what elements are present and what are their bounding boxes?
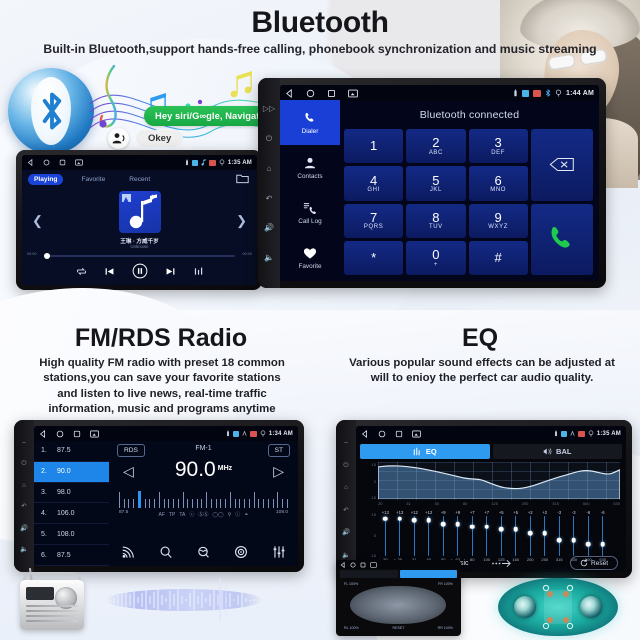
voice-reply-bubble: Okey: [136, 130, 183, 147]
zone-label-rr: RR 100%: [438, 626, 453, 630]
target-icon[interactable]: [234, 545, 248, 559]
bluetooth-dialer-screen[interactable]: 1:44 AM Dialer Contacts: [280, 85, 599, 281]
tab-eq[interactable]: EQ: [360, 444, 490, 459]
preset-number: 1.: [41, 447, 49, 454]
preset-frequency: 87.5: [57, 447, 71, 454]
key-letters: GHI: [367, 187, 379, 193]
fm-main-panel: RDS ST FM-1 ◁ ▷ 90.0MHz 87.5 108.0: [109, 441, 298, 566]
frequency-display: 90.0MHz: [109, 458, 298, 482]
pause-icon[interactable]: [132, 263, 148, 279]
preset-number: 2.: [41, 468, 49, 475]
volume-up-button[interactable]: 🔊: [20, 524, 28, 532]
android-nav-bar[interactable]: [27, 159, 83, 166]
key-letters: WXYZ: [488, 224, 508, 230]
screenshot-icon[interactable]: [348, 89, 358, 98]
key-3[interactable]: 3 DEF: [469, 129, 528, 163]
eq-gain-label: +5: [513, 510, 518, 515]
backspace-icon: [549, 157, 575, 172]
clock-label: 1:44 AM: [566, 90, 594, 97]
tab-playing[interactable]: Playing: [28, 174, 63, 185]
eq-slider-knob[interactable]: [542, 531, 547, 536]
poster-canvas: Bluetooth Built-in Bluetooth,support han…: [0, 0, 640, 640]
back-icon[interactable]: [27, 159, 34, 166]
preset-item-3[interactable]: 3. 98.0: [34, 483, 109, 504]
tab-eq[interactable]: [340, 570, 398, 578]
scan-icon[interactable]: [196, 545, 210, 559]
bt-statusbar: 1:44 AM: [280, 85, 599, 101]
eq-x-tick: 500: [583, 501, 590, 508]
preset-item-5[interactable]: 5. 108.0: [34, 524, 109, 545]
bluetooth-dialer-device: ▷▷ ⏻ ⌂ ↶ 🔊 🔈: [258, 78, 606, 288]
preset-number: 6.: [41, 552, 49, 559]
eq-graph-x-axis: 20 31 50 80 125 200 315 500 630: [378, 501, 620, 508]
fm-toolbar[interactable]: [109, 540, 298, 564]
key-4[interactable]: 4 GHI: [344, 166, 403, 200]
eq-slider-track[interactable]: [414, 516, 415, 556]
eq-slider-track[interactable]: [486, 516, 487, 556]
page-subtitle: Built-in Bluetooth,support hands-free ca…: [0, 42, 640, 56]
eq-slider-track[interactable]: [472, 516, 473, 556]
volume-down-button[interactable]: 🔈: [264, 253, 274, 262]
previous-track-arrow[interactable]: ❮: [32, 213, 43, 229]
location-icon: [555, 89, 562, 97]
radio-grille-line: [26, 610, 78, 612]
equalizer-screen[interactable]: 1:35 AM EQ BAL: [356, 426, 626, 572]
hero-section: Bluetooth Built-in Bluetooth,support han…: [0, 0, 640, 310]
eq-gain-label: +13: [382, 510, 389, 515]
usb-icon: [226, 430, 230, 437]
back-icon[interactable]: [39, 430, 47, 438]
rds-flags-row: AF TP TA ⓒ ⓈⓈ ◯◯ ⚲ ⓘ ⚭: [109, 511, 298, 518]
bluetooth-status-text: Bluetooth connected: [340, 109, 599, 121]
preset-list[interactable]: 1. 87.5 2. 90.0 3. 98.0 4. 106.0 5. 108.…: [34, 441, 109, 566]
zone-label-rl: RL 100%: [344, 626, 359, 630]
eq-gain-label: -6: [601, 510, 605, 515]
eq-gain-label: +2: [542, 510, 547, 515]
eq-gain-label: -3: [572, 510, 576, 515]
key-digit: 9: [495, 211, 502, 225]
fm-statusbar: 1:34 AM: [34, 426, 298, 441]
person-icon: [303, 156, 317, 170]
search-icon[interactable]: [159, 545, 173, 559]
usb-icon: [513, 89, 518, 97]
key-2[interactable]: 2 ABC: [406, 129, 465, 163]
rds-flag-ta: TA: [179, 512, 185, 518]
home-icon[interactable]: [378, 430, 386, 438]
eq-response-graph: [378, 462, 620, 500]
eq-x-tick: 200: [522, 501, 529, 508]
eq-gain-label: +13: [396, 510, 403, 515]
sidebar-label-call-log: Call Log: [298, 218, 321, 225]
volume-down-button[interactable]: 🔈: [20, 545, 28, 553]
eq-slider-knob[interactable]: [600, 542, 605, 547]
key-digit: 1: [370, 139, 377, 153]
key-6[interactable]: 6 MNO: [469, 166, 528, 200]
eq-slider-knob[interactable]: [441, 522, 446, 527]
radio-grille-line: [26, 615, 78, 617]
android-nav-bar[interactable]: [361, 430, 421, 438]
eq-slider-track[interactable]: [399, 516, 400, 556]
car-interior-details: [498, 578, 618, 636]
eq-gain-label: +9: [441, 510, 446, 515]
back-icon[interactable]: [285, 89, 294, 98]
clock-label: 1:34 AM: [269, 431, 293, 437]
screenshot-icon[interactable]: [90, 430, 99, 438]
dial-keypad[interactable]: 1 2 ABC 3 DEF 4 GHI: [344, 129, 593, 275]
zone-label-fr: FR 100%: [438, 582, 453, 586]
repeat-icon[interactable]: [76, 266, 87, 277]
eq-slider-ymin: -15: [370, 553, 376, 558]
fm-radio-screen[interactable]: 1:34 AM 1. 87.5 2. 90.0 3. 98.0 4. 106.0: [34, 426, 298, 566]
eq-graph-y-axis: 15 0 -15: [360, 462, 376, 500]
page-title: Bluetooth: [0, 6, 640, 40]
android-nav-bar[interactable]: [39, 430, 99, 438]
key-9[interactable]: 9 WXYZ: [469, 204, 528, 238]
progress-thumb[interactable]: [44, 253, 50, 259]
equalizer-icon[interactable]: [193, 266, 204, 277]
location-icon: [588, 430, 594, 437]
car-top-view[interactable]: [350, 586, 446, 624]
frequency-unit: MHz: [218, 465, 232, 472]
radio-grille-line: [26, 620, 78, 622]
recents-icon[interactable]: [395, 430, 403, 438]
tab-bal[interactable]: BAL: [493, 444, 623, 459]
screenshot-icon[interactable]: [75, 159, 83, 166]
mic-button[interactable]: ⎯: [344, 439, 347, 447]
fm-section-body: High quality FM radio with preset 18 com…: [34, 356, 290, 418]
key-letters: MNO: [490, 187, 506, 193]
fm-section-title: FM/RDS Radio: [6, 324, 316, 353]
rds-symbol-2: ⓈⓈ: [198, 511, 208, 518]
device-side-buttons[interactable]: ⎯ ⏻ ⌂ ↶ 🔊 🔈: [336, 420, 356, 578]
music-tabs[interactable]: Playing Favorite Recent: [28, 174, 156, 185]
preset-item-1[interactable]: 1. 87.5: [34, 441, 109, 462]
volume-up-button[interactable]: 🔊: [264, 223, 274, 232]
bluetooth-icon: [41, 90, 63, 132]
key-letters: ABC: [429, 150, 443, 156]
antenna-icon: [570, 430, 575, 437]
key-digit: 0: [432, 248, 439, 262]
clock-label: 1:35 AM: [597, 431, 621, 437]
gps-icon: [533, 90, 541, 97]
equalizer-device: ⎯ ⏻ ⌂ ↶ 🔊 🔈: [336, 420, 632, 578]
eq-slider-y-axis: 15 0 -15: [360, 512, 376, 558]
balance-icon: [543, 447, 552, 456]
key-letters: JKL: [430, 187, 442, 193]
rds-flag-af: AF: [159, 512, 165, 518]
music-player-screen[interactable]: 1:35 AM Playing Favorite Recent: [22, 155, 257, 285]
eq-slider-track[interactable]: [515, 516, 516, 556]
music-player-device: 1:35 AM Playing Favorite Recent: [16, 150, 262, 290]
key-hash[interactable]: #: [469, 241, 528, 275]
radio-body: [20, 580, 84, 630]
gps-icon: [250, 431, 257, 437]
track-artist: Unknown: [22, 244, 257, 249]
heart-icon: [303, 247, 317, 260]
key-8[interactable]: 8 TUV: [406, 204, 465, 238]
power-button[interactable]: ⏻: [266, 134, 272, 144]
eq-slider-ymid: 0: [374, 533, 376, 538]
recents-icon[interactable]: [360, 562, 366, 568]
eq-x-tick: 31: [406, 501, 410, 508]
home-icon[interactable]: [43, 159, 50, 166]
reset-button[interactable]: Reset: [570, 556, 618, 570]
bal-reset-label[interactable]: RESET: [393, 626, 405, 630]
home-icon[interactable]: [350, 562, 356, 568]
preset-number: 5.: [41, 531, 49, 538]
sd-card-icon: [192, 160, 198, 166]
eq-x-tick: 80: [463, 501, 467, 508]
sidebar-item-call-log[interactable]: Call Log: [280, 191, 340, 236]
back-icon[interactable]: [361, 430, 369, 438]
eq-slider-track[interactable]: [443, 516, 444, 556]
mic-button[interactable]: ▷▷: [263, 104, 275, 113]
key-letters: PQRS: [364, 224, 383, 230]
radio-display: [26, 587, 54, 600]
tab-bal-label: BAL: [556, 447, 571, 456]
sd-card-icon: [561, 431, 567, 437]
android-nav-bar[interactable]: [285, 89, 358, 98]
sliders-icon[interactable]: [272, 545, 286, 559]
eq-slider-track[interactable]: [588, 516, 589, 556]
call-button[interactable]: [531, 204, 593, 276]
tab-bal[interactable]: [400, 570, 458, 578]
reset-label: Reset: [591, 560, 608, 567]
key-digit: 2: [432, 136, 439, 150]
rds-symbol-4: ⚲: [228, 512, 232, 518]
key-digit: 5: [432, 174, 439, 188]
backspace-button[interactable]: [531, 129, 593, 201]
recents-icon[interactable]: [327, 89, 336, 98]
music-note-icon: [201, 159, 206, 166]
usb-icon: [185, 159, 189, 166]
rds-flag-tp: TP: [169, 512, 175, 518]
eq-tab-bar[interactable]: EQ BAL: [360, 444, 622, 459]
next-icon[interactable]: [165, 266, 176, 277]
eq-slider-knob[interactable]: [557, 538, 562, 543]
progress-slider[interactable]: [44, 255, 235, 257]
key-digit: *: [371, 251, 376, 265]
preset-frequency: 90.0: [57, 468, 71, 475]
next-arrow-icon[interactable]: [491, 559, 513, 568]
total-time: 00:00: [242, 252, 252, 256]
screenshot-icon[interactable]: [412, 430, 421, 438]
eq-x-tick: 125: [491, 501, 498, 508]
zone-label-fl: FL 100%: [344, 582, 358, 586]
home-button[interactable]: ⌂: [344, 484, 348, 491]
preset-frequency: 108.0: [57, 531, 75, 538]
eq-gain-label: +7: [470, 510, 475, 515]
bluetooth-logo: [8, 68, 94, 154]
audio-waveform-illustration: [104, 578, 264, 622]
device-side-buttons[interactable]: ▷▷ ⏻ ⌂ ↶ 🔊 🔈: [258, 78, 280, 288]
key-letters: +: [434, 262, 438, 268]
status-icons: 1:34 AM: [226, 430, 293, 437]
eq-gain-label: +9: [455, 510, 460, 515]
eq-slider-knob[interactable]: [484, 524, 489, 529]
preset-number: 3.: [41, 489, 49, 496]
eq-section-body: Various popular sound effects can be adj…: [344, 356, 620, 387]
phone-icon: [303, 111, 317, 125]
eq-slider-track[interactable]: [530, 516, 531, 556]
eq-slider-track[interactable]: [385, 516, 386, 556]
sidebar-label-contacts: Contacts: [297, 173, 322, 180]
gps-icon: [209, 160, 216, 166]
sidebar-label-favorite: Favorite: [298, 263, 321, 270]
sd-card-icon: [522, 90, 529, 97]
eq-slider-track[interactable]: [457, 516, 458, 556]
back-button[interactable]: ↶: [343, 506, 348, 514]
key-7[interactable]: 7 PQRS: [344, 204, 403, 238]
device-side-buttons[interactable]: ⎯ ⏻ ⌂ ↶ 🔊 🔈: [14, 420, 34, 572]
eq-graph-ymin: -15: [370, 495, 376, 500]
tab-eq-label: EQ: [426, 447, 437, 456]
power-button[interactable]: ⏻: [21, 460, 26, 468]
eq-gain-label: -3: [557, 510, 561, 515]
elapsed-time: 00:00: [27, 252, 37, 256]
eq-section-title: EQ: [330, 324, 630, 353]
gps-icon: [578, 431, 585, 437]
key-0[interactable]: 0 +: [406, 241, 465, 275]
call-log-icon: [303, 201, 317, 215]
key-digit: #: [495, 251, 502, 265]
eq-slider-track[interactable]: [559, 516, 560, 556]
recents-icon[interactable]: [73, 430, 81, 438]
eq-slider-knob[interactable]: [470, 524, 475, 529]
preset-frequency: 87.5: [57, 552, 71, 559]
back-button[interactable]: ↶: [266, 194, 273, 203]
eq-slider-knob[interactable]: [383, 516, 388, 521]
eq-slider-track[interactable]: [544, 516, 545, 556]
radio-grille-line: [26, 605, 78, 607]
sidebar-label-dialer: Dialer: [302, 128, 319, 135]
recents-icon[interactable]: [59, 159, 66, 166]
broadcast-icon[interactable]: [121, 545, 135, 559]
key-digit: 6: [495, 174, 502, 188]
key-star[interactable]: *: [344, 241, 403, 275]
rds-symbol-6: ⚭: [244, 512, 248, 518]
key-digit: 8: [432, 211, 439, 225]
next-track-arrow[interactable]: ❯: [236, 213, 247, 229]
preset-number: 4.: [41, 510, 49, 517]
preset-item-4[interactable]: 4. 106.0: [34, 503, 109, 524]
tuning-dial[interactable]: [119, 491, 288, 508]
eq-gain-label: +12: [425, 510, 432, 515]
eq-x-tick: 20: [378, 501, 382, 508]
balance-device: FL 100% FR 100% RL 100% RR 100% RESET: [336, 560, 461, 636]
sidebar-item-dialer[interactable]: Dialer: [280, 100, 340, 145]
album-art: [119, 191, 161, 233]
screenshot-icon[interactable]: [370, 562, 377, 568]
eq-gain-label: +12: [411, 510, 418, 515]
fm-radio-device: ⎯ ⏻ ⌂ ↶ 🔊 🔈: [14, 420, 304, 572]
key-digit: 3: [495, 136, 502, 150]
voice-avatar-icon: [108, 128, 129, 149]
eq-slider-knob[interactable]: [412, 518, 417, 523]
previous-icon[interactable]: [104, 266, 115, 277]
volume-down-button[interactable]: 🔈: [342, 551, 350, 559]
dialer-sidebar[interactable]: Dialer Contacts Call Log: [280, 100, 340, 281]
back-icon[interactable]: [340, 562, 346, 568]
eq-slider-knob[interactable]: [571, 538, 576, 543]
rds-symbol-3: ◯◯: [212, 512, 223, 518]
frequency-value: 90.0: [175, 458, 216, 481]
bal-tab-bar[interactable]: [340, 570, 457, 578]
key-digit: 4: [370, 174, 377, 188]
home-icon[interactable]: [56, 430, 64, 438]
key-digit: 7: [370, 211, 377, 225]
eq-slider-knob[interactable]: [426, 518, 431, 523]
usb-icon: [554, 430, 558, 437]
volume-up-button[interactable]: 🔊: [342, 528, 350, 536]
reset-icon: [580, 559, 588, 567]
back-button[interactable]: ↶: [21, 502, 26, 510]
bluetooth-status-icon: [545, 89, 551, 97]
eq-slider-knob[interactable]: [455, 522, 460, 527]
preset-frequency: 106.0: [57, 510, 75, 517]
music-statusbar: 1:35 AM: [22, 155, 257, 170]
mic-button[interactable]: ⎯: [22, 439, 25, 447]
eq-slider-knob[interactable]: [528, 531, 533, 536]
eq-statusbar: 1:35 AM: [356, 426, 626, 441]
key-5[interactable]: 5 JKL: [406, 166, 465, 200]
tab-recent[interactable]: Recent: [123, 174, 156, 185]
preset-item-6[interactable]: 6. 87.5: [34, 545, 109, 566]
preset-frequency: 98.0: [57, 489, 71, 496]
status-icons: 1:35 AM: [554, 430, 621, 437]
playback-controls[interactable]: [22, 263, 257, 279]
key-letters: DEF: [491, 150, 505, 156]
clock-label: 1:35 AM: [228, 160, 252, 166]
call-green-icon: [546, 223, 578, 255]
eq-slider-knob[interactable]: [397, 516, 402, 521]
eq-slider-track[interactable]: [573, 516, 574, 556]
tab-favorite[interactable]: Favorite: [75, 174, 111, 185]
retro-radio-illustration: [16, 568, 88, 632]
eq-gain-label: -6: [586, 510, 590, 515]
key-1[interactable]: 1: [344, 129, 403, 163]
eq-x-tick: 50: [435, 501, 439, 508]
sd-card-icon: [233, 431, 239, 437]
status-icons: 1:44 AM: [513, 89, 594, 97]
eq-slider-knob[interactable]: [499, 527, 504, 532]
location-icon: [219, 159, 225, 166]
status-icons: 1:35 AM: [185, 159, 252, 166]
car-speaker-illustration: [498, 578, 618, 636]
power-button[interactable]: ⏻: [343, 462, 348, 470]
eq-gain-label: +2: [528, 510, 533, 515]
eq-response-curve: [378, 462, 620, 499]
eq-x-tick: 630: [613, 501, 620, 508]
home-button[interactable]: ⌂: [22, 482, 26, 489]
preset-item-2[interactable]: 2. 90.0: [34, 462, 109, 483]
eq-gain-label: +5: [499, 510, 504, 515]
location-icon: [260, 430, 266, 437]
eq-x-tick: 315: [552, 501, 559, 508]
eq-slider-knob[interactable]: [586, 542, 591, 547]
eq-slider-track[interactable]: [602, 516, 603, 556]
folder-icon[interactable]: [236, 173, 249, 184]
home-button[interactable]: ⌂: [267, 164, 272, 173]
rds-symbol-5: ⓘ: [235, 511, 240, 518]
eq-slider-track[interactable]: [501, 516, 502, 556]
home-icon[interactable]: [306, 89, 315, 98]
rds-symbol-1: ⓒ: [189, 511, 194, 518]
eq-slider-track[interactable]: [428, 516, 429, 556]
eq-slider-knob[interactable]: [513, 527, 518, 532]
sidebar-item-contacts[interactable]: Contacts: [280, 145, 340, 190]
sidebar-item-favorite[interactable]: Favorite: [280, 236, 340, 281]
